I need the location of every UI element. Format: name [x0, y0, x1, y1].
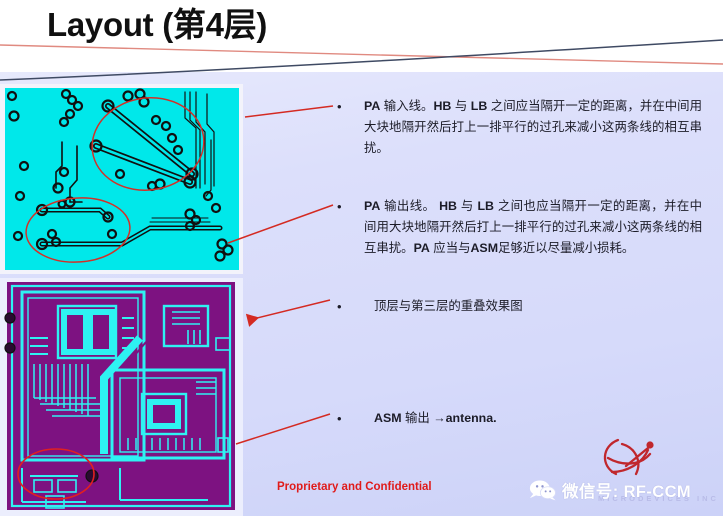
bullet-marker: •: [337, 196, 342, 217]
bullet-marker: •: [337, 408, 342, 429]
logo-dot: [646, 441, 653, 448]
slide-canvas: Layout (第4层): [0, 0, 723, 516]
bullet-text: PA 输入线。HB 与 LB 之间应当隔开一定的距离，并在中间用大块地隔开然后打…: [364, 96, 702, 159]
bullet-text: ASM 输出 →antenna.: [374, 408, 702, 429]
bullet-row: • PA 输入线。HB 与 LB 之间应当隔开一定的距离，并在中间用大块地隔开然…: [312, 96, 702, 159]
wechat-watermark: 微信号: RF-CCM: [529, 477, 691, 503]
page-title: Layout (第4层): [47, 4, 267, 46]
pcb-image-bottom: [0, 278, 243, 516]
bullet-row: • 顶层与第三层的重叠效果图: [312, 296, 702, 317]
bullet-row: • PA 输出线。 HB 与 LB 之间也应当隔开一定的距离，并在中间用大块地隔…: [312, 196, 702, 259]
watermark-text: 微信号: RF-CCM: [562, 478, 691, 502]
bullet-text: PA 输出线。 HB 与 LB 之间也应当隔开一定的距离，并在中间用大块地隔开然…: [364, 196, 702, 259]
bullet-item-1: • PA 输入线。HB 与 LB 之间应当隔开一定的距离，并在中间用大块地隔开然…: [312, 96, 702, 159]
bullet-text: 顶层与第三层的重叠效果图: [374, 296, 702, 317]
wechat-icon: [529, 479, 556, 501]
bullet-marker: •: [337, 96, 342, 117]
bullet-marker: •: [337, 296, 342, 317]
confidential-note: Proprietary and Confidential: [277, 481, 432, 493]
pcb-image-top: [0, 84, 243, 274]
bullet-row: • ASM 输出 →antenna.: [312, 408, 702, 429]
bullet-item-3: • 顶层与第三层的重叠效果图: [312, 296, 702, 317]
bullet-item-2: • PA 输出线。 HB 与 LB 之间也应当隔开一定的距离，并在中间用大块地隔…: [312, 196, 702, 259]
bullet-item-4: • ASM 输出 →antenna.: [312, 408, 702, 429]
